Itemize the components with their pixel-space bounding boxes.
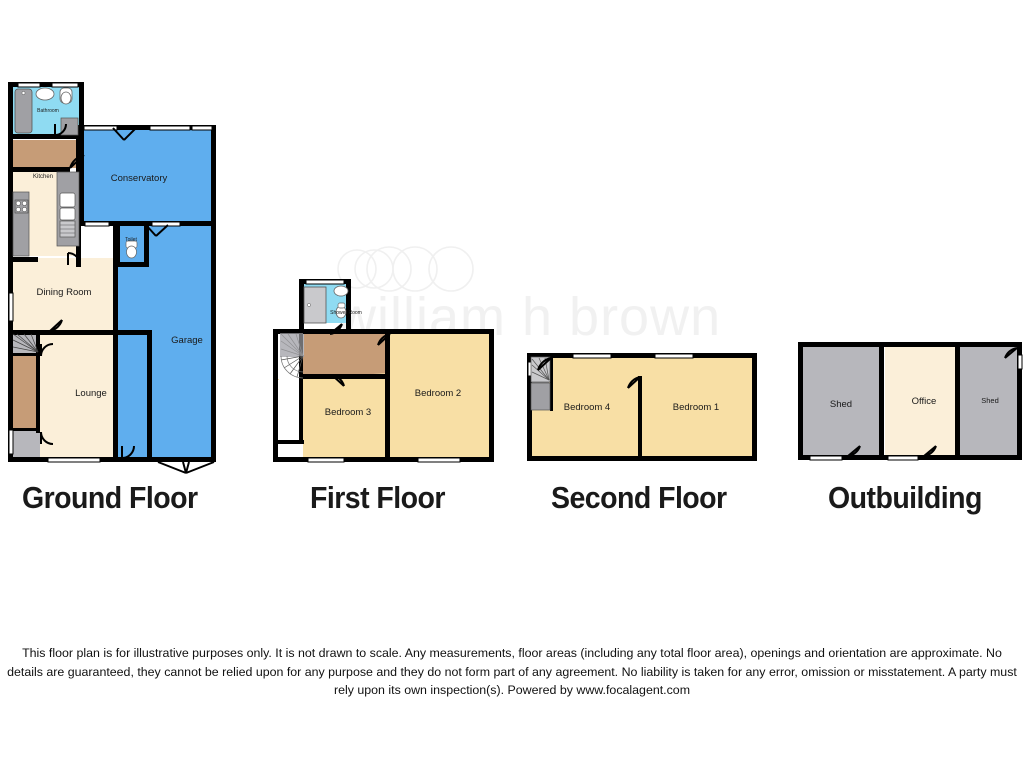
floor-plan-canvas: william h brown [0,0,1024,768]
floor-title-ground-floor: Ground Floor [22,480,198,516]
disclaimer-block: This floor plan is for illustrative purp… [0,644,1024,700]
floor-title-second-floor: Second Floor [551,480,727,516]
room-label-shed-left: Shed [830,399,852,410]
room-label-shed-right: Shed [981,396,999,405]
floor-title-first-floor: First Floor [310,480,445,516]
disclaimer-text: This floor plan is for illustrative purp… [0,644,1024,700]
room-label-office: Office [912,396,937,407]
floor-title-outbuilding: Outbuilding [828,480,982,516]
